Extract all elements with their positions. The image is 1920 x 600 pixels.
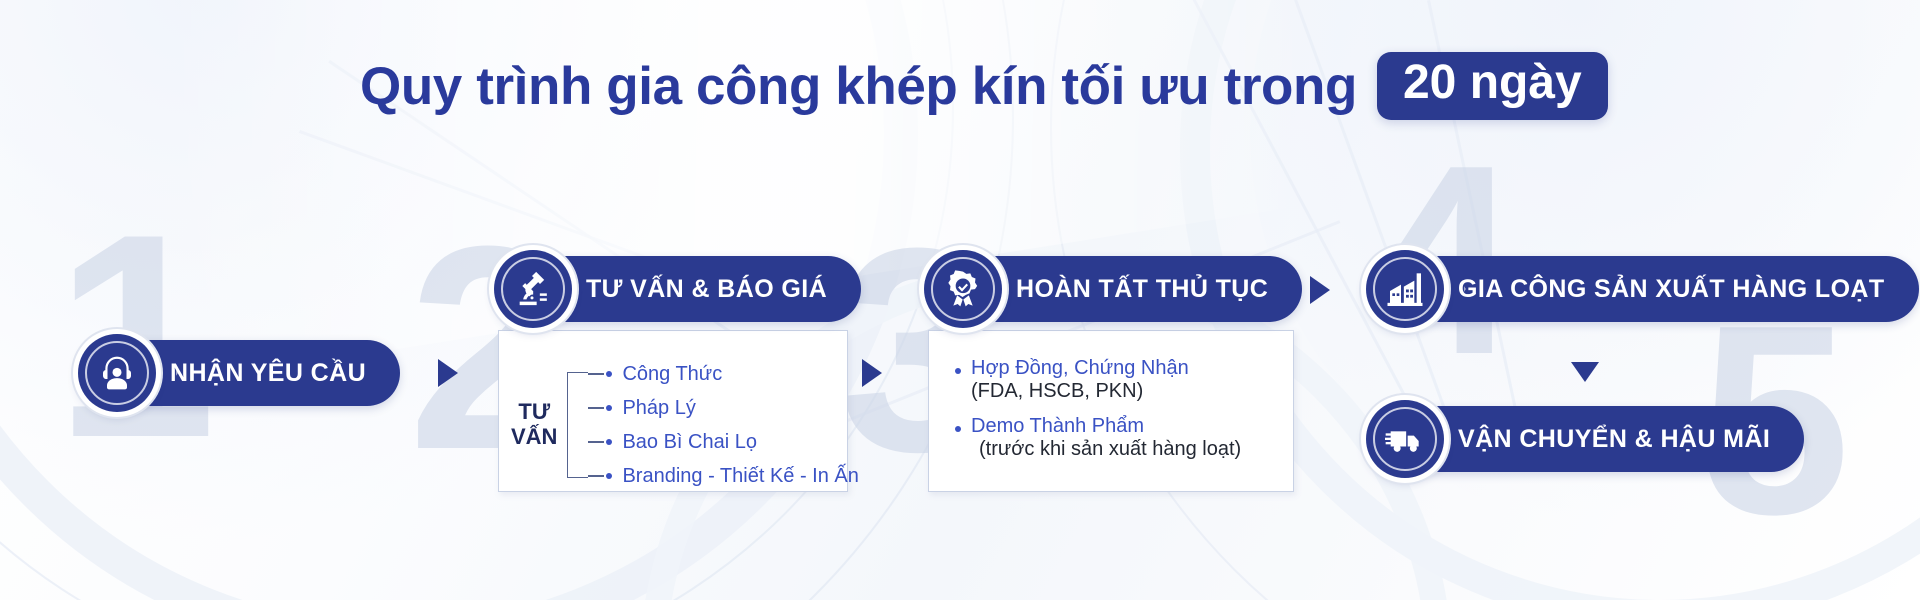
list-item: Bao Bì Chai Lọ [588, 425, 858, 459]
step-5-label: VẬN CHUYỂN & HẬU MÃI [1414, 406, 1804, 472]
step-2-detail-card: TƯ VẤN Công Thức Pháp Lý Bao Bì Chai Lọ … [498, 330, 848, 492]
step-2-item-label: Công Thức [622, 363, 722, 386]
step-3-detail-card: Hợp Đồng, Chứng Nhận (FDA, HSCB, PKN) De… [928, 330, 1294, 492]
step-3-bullet-lead: Hợp Đồng, Chứng Nhận [951, 357, 1293, 380]
duration-badge: 20 ngày [1377, 52, 1608, 120]
factory-icon [1366, 250, 1444, 328]
step-2-pill[interactable]: TƯ VẤN & BÁO GIÁ [494, 256, 861, 322]
step-2-item-label: Pháp Lý [622, 397, 695, 420]
step-2-group-label-line1: TƯ [518, 399, 550, 424]
bracket-stem [588, 407, 604, 409]
bullet-dot [606, 405, 612, 411]
list-item: Hợp Đồng, Chứng Nhận (FDA, HSCB, PKN) [951, 357, 1293, 403]
certificate-ribbon-icon [924, 250, 1002, 328]
step-3-bullet-lead: Demo Thành Phẩm [951, 415, 1293, 438]
list-item: Công Thức [588, 357, 858, 391]
watermark-number-1: 1 [55, 218, 216, 456]
step-5-pill[interactable]: VẬN CHUYỂN & HẬU MÃI [1366, 406, 1804, 472]
step-3-bullet-sub: (trước khi sản xuất hàng loạt) [951, 438, 1293, 461]
bracket-stem [588, 475, 604, 477]
headset-support-agent-icon [78, 334, 156, 412]
step-1-pill[interactable]: NHẬN YÊU CẦU [78, 340, 400, 406]
list-item: Demo Thành Phẩm (trước khi sản xuất hàng… [951, 415, 1293, 461]
infographic-canvas: 1 2 3 4 5 Quy trình gia công khép kín tố… [0, 0, 1920, 600]
arrow-step3-to-step4 [1310, 276, 1330, 304]
step-3-bullet-list: Hợp Đồng, Chứng Nhận (FDA, HSCB, PKN) De… [951, 357, 1293, 461]
step-3-pill[interactable]: HOÀN TẤT THỦ TỤC [924, 256, 1302, 322]
arrow-step1-to-step2 [438, 359, 458, 387]
step-2-bracket [567, 372, 588, 478]
step-4-label: GIA CÔNG SẢN XUẤT HÀNG LOẠT [1414, 256, 1919, 322]
delivery-truck-icon [1366, 400, 1444, 478]
microscope-icon [494, 250, 572, 328]
arrow-step4-to-step5 [1571, 362, 1599, 382]
arrow-step2-to-step3 [862, 359, 882, 387]
page-title: Quy trình gia công khép kín tối ưu trong [360, 56, 1357, 117]
page-title-row: Quy trình gia công khép kín tối ưu trong… [360, 52, 1608, 120]
list-item: Pháp Lý [588, 391, 858, 425]
bullet-dot [606, 439, 612, 445]
step-2-item-label: Branding - Thiết Kế - In Ấn [622, 465, 858, 488]
step-2-bracket-group: TƯ VẤN Công Thức Pháp Lý Bao Bì Chai Lọ … [511, 357, 859, 493]
step-2-item-list: Công Thức Pháp Lý Bao Bì Chai Lọ Brandin… [588, 357, 858, 493]
step-4-pill[interactable]: GIA CÔNG SẢN XUẤT HÀNG LOẠT [1366, 256, 1919, 322]
step-3-bullet-sub: (FDA, HSCB, PKN) [951, 380, 1293, 403]
list-item: Branding - Thiết Kế - In Ấn [588, 459, 858, 493]
bullet-dot [606, 473, 612, 479]
step-2-group-label: TƯ VẤN [511, 400, 557, 449]
step-2-group-label-line2: VẤN [511, 424, 557, 449]
step-2-item-label: Bao Bì Chai Lọ [622, 431, 757, 454]
bracket-stem [588, 373, 604, 375]
bracket-stem [588, 441, 604, 443]
bullet-dot [606, 371, 612, 377]
